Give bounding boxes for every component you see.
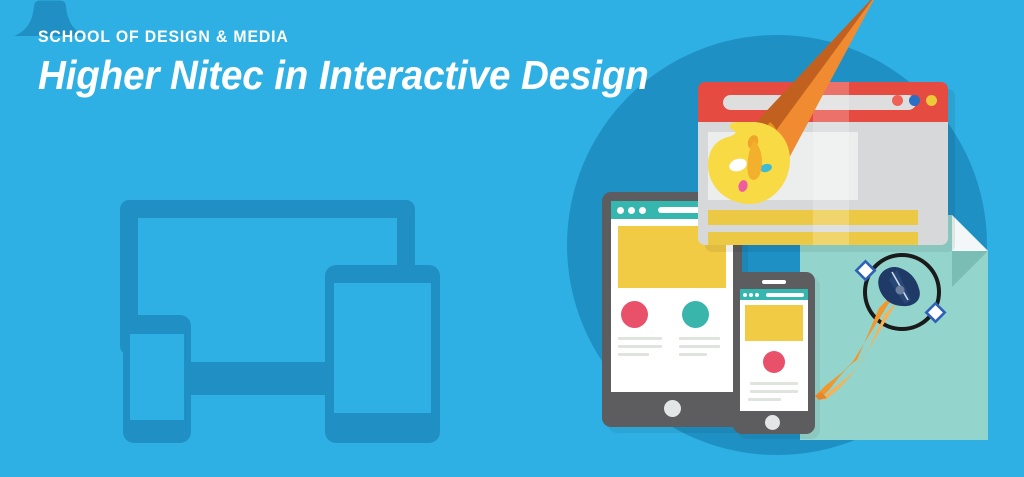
page-title: Higher Nitec in Interactive Design bbox=[38, 54, 649, 97]
tablet-home-button[interactable] bbox=[664, 400, 681, 417]
tablet-text-line bbox=[679, 337, 720, 340]
design-course-banner: SCHOOL OF DESIGN & MEDIA Higher Nitec in… bbox=[0, 0, 1024, 477]
tablet-text-line bbox=[618, 337, 662, 340]
anchor-point bbox=[856, 261, 874, 279]
tablet-text-line bbox=[618, 353, 649, 356]
headline-emphasis: Interactive Design bbox=[319, 52, 649, 98]
phone-text-line bbox=[750, 382, 798, 385]
tablet-text-line bbox=[679, 353, 707, 356]
phone-address-bar[interactable] bbox=[766, 293, 804, 297]
tablet-text-line bbox=[618, 345, 662, 348]
phone-text-line bbox=[748, 398, 781, 401]
feature-circle-red bbox=[621, 301, 648, 328]
headline-prefix: Higher Nitec in bbox=[38, 52, 319, 98]
phone-dot-2 bbox=[749, 293, 753, 297]
tablet-dot-3 bbox=[639, 207, 646, 214]
phone-titlebar bbox=[740, 289, 808, 300]
phone-text-line bbox=[750, 390, 798, 393]
phone-screen bbox=[740, 289, 808, 411]
eyebrow-text: SCHOOL OF DESIGN & MEDIA bbox=[38, 28, 642, 45]
feature-circle-teal bbox=[682, 301, 709, 328]
tablet-dot-2 bbox=[628, 207, 635, 214]
phone-home-button[interactable] bbox=[765, 415, 780, 430]
tablet-text-line bbox=[679, 345, 720, 348]
phone-speaker bbox=[762, 280, 786, 284]
tablet-dot-1 bbox=[617, 207, 624, 214]
phone-hero-block bbox=[745, 305, 803, 341]
feature-circle-red bbox=[763, 351, 785, 373]
paint-palette-icon bbox=[700, 120, 810, 215]
phone-dot-3 bbox=[755, 293, 759, 297]
control-dot-yellow[interactable] bbox=[926, 95, 937, 106]
browser-content-row bbox=[708, 232, 918, 245]
headline-block: SCHOOL OF DESIGN & MEDIA Higher Nitec in… bbox=[38, 28, 688, 97]
phone-device bbox=[733, 272, 815, 434]
phone-dot-1 bbox=[743, 293, 747, 297]
pen-tool-icon bbox=[805, 250, 985, 430]
